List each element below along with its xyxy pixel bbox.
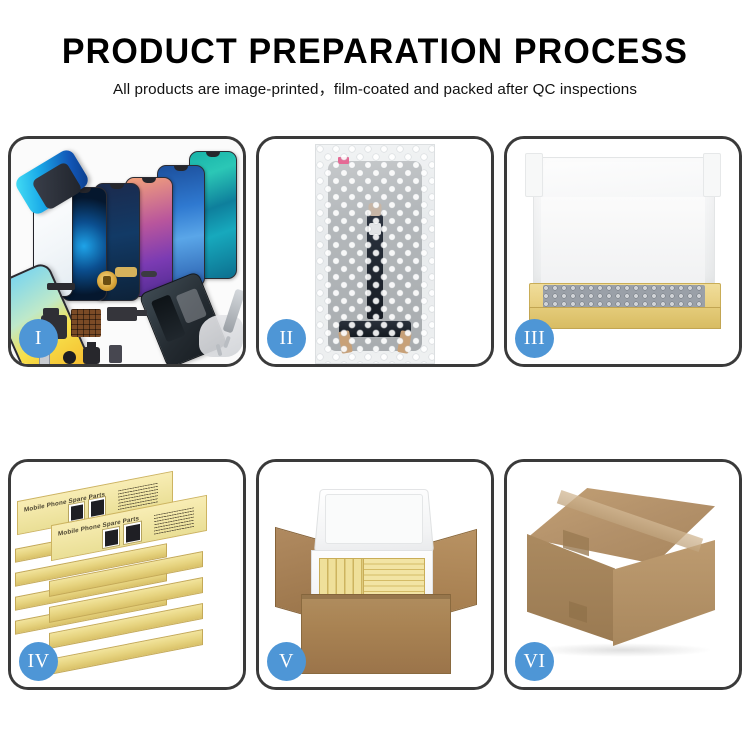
page-title: PRODUCT PREPARATION PROCESS (11, 34, 739, 69)
panel-bubble-wrapped-screen[interactable]: II (256, 136, 494, 367)
step-badge: V (267, 642, 306, 681)
panel-stacked-boxes[interactable]: Mobile Phone Spare Parts Mobile Phone Sp… (8, 459, 246, 690)
connector-grid-icon (71, 309, 101, 337)
volume-button-icon (141, 271, 157, 277)
carton-shadow (533, 643, 713, 657)
step-badge: III (515, 319, 554, 358)
battery-connector-icon (109, 345, 122, 363)
step-badge: IV (19, 642, 58, 681)
box-thumbnail-screen (91, 499, 104, 517)
earpiece-speaker-icon (47, 283, 75, 290)
box-lid-flap-right (703, 153, 721, 197)
box-thumbnail-screen (126, 523, 140, 542)
box-spec-lines (154, 507, 194, 535)
panel-inner-box[interactable]: III (504, 136, 742, 367)
box-thumbnail-screen (71, 504, 83, 520)
foam-sheet (541, 197, 705, 289)
bubble-wrap-bag (315, 144, 435, 364)
step-badge: I (19, 319, 58, 358)
step-badge: II (267, 319, 306, 358)
panel-sealed-carton[interactable]: VI (504, 459, 742, 690)
panel-parts-and-phones[interactable]: I (8, 136, 246, 367)
carton-body (301, 594, 451, 674)
foam-box-lid-rim (325, 494, 423, 544)
header: PRODUCT PREPARATION PROCESS All products… (0, 0, 750, 97)
panel-foam-carton[interactable]: V (256, 459, 494, 690)
box-thumbnail-b (123, 520, 142, 545)
flex-cable-secondary-icon (107, 307, 137, 321)
page-subtitle: All products are image-printed，film-coat… (0, 82, 750, 97)
box-thumbnail-screen (105, 529, 118, 547)
bubble-texture-overlay (316, 145, 434, 363)
speaker-coil-icon (97, 271, 117, 291)
process-step-grid: I II (8, 136, 742, 690)
step-badge: VI (515, 642, 554, 681)
camera-module-icon (63, 351, 76, 364)
yellow-box-front-face (529, 307, 721, 329)
box-lid-flap-left (525, 153, 543, 197)
vibration-motor-icon (83, 347, 100, 364)
ribbon-cable-icon (115, 267, 137, 277)
box-thumbnail-a (102, 526, 120, 549)
